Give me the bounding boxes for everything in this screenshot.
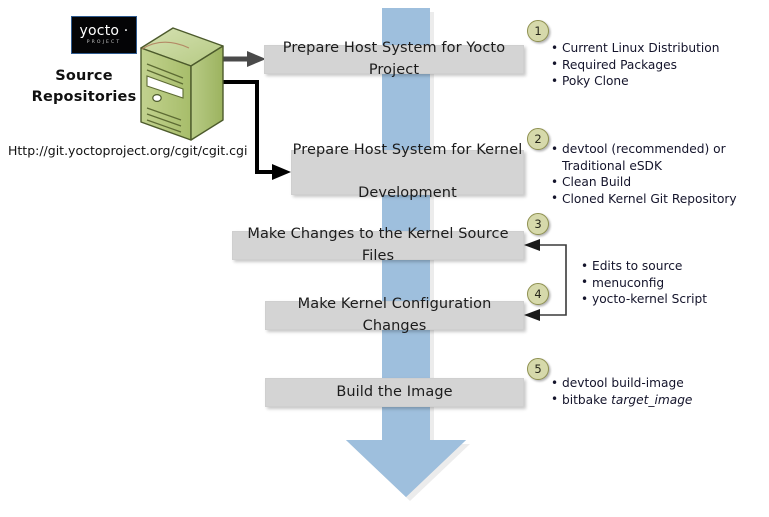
step-3-box-label: Make Changes to the Kernel Source Files [233, 224, 523, 268]
step-4-box[interactable]: Make Kernel Configuration Changes [265, 301, 524, 330]
step-2-box-label: Prepare Host System for Kernel Developme… [292, 140, 523, 205]
step-3-box[interactable]: Make Changes to the Kernel Source Files [232, 231, 524, 260]
source-repository-url[interactable]: Http://git.yoctoproject.org/cgit/cgit.cg… [8, 143, 247, 158]
step-5-number-badge: 5 [527, 358, 549, 380]
step-2-box-line2: Development [292, 183, 523, 205]
steps-3-4-bullet: Edits to source [580, 258, 707, 275]
server-icon [133, 26, 225, 144]
steps-3-4-bullet-list: Edits to source menuconfig yocto-kernel … [580, 258, 707, 308]
step-2-bullet: Clean Build [550, 174, 737, 191]
step-5-bullet: bitbake target_image [550, 392, 692, 409]
step-1-box[interactable]: Prepare Host System for Yocto Project [264, 45, 524, 74]
step-1-number-badge: 1 [527, 20, 549, 42]
step-1-box-label: Prepare Host System for Yocto Project [265, 38, 523, 82]
steps-3-4-bullet: menuconfig [580, 275, 707, 292]
yocto-project-logo: yocto · PROJECT [71, 16, 137, 54]
connector-server-to-step2 [220, 82, 291, 180]
connector-bracket-steps-3-4 [524, 239, 566, 321]
step-3-number-badge: 3 [527, 213, 549, 235]
step-4-number-badge: 4 [527, 283, 549, 305]
step-2-bullet-continuation: Traditional eSDK [550, 158, 737, 175]
step-5-box-label: Build the Image [266, 382, 523, 404]
logo-subword: PROJECT [87, 39, 122, 46]
step-5-box[interactable]: Build the Image [265, 378, 524, 407]
step-4-box-label: Make Kernel Configuration Changes [266, 294, 523, 338]
logo-wordmark: yocto · [80, 24, 129, 38]
diagram-canvas: yocto · PROJECT [0, 0, 769, 517]
source-label-line2: Repositories [28, 87, 140, 108]
step-5-bullet-command: bitbake [562, 393, 611, 407]
step-5-bullet: devtool build-image [550, 375, 692, 392]
step-2-box[interactable]: Prepare Host System for Kernel Developme… [291, 150, 524, 195]
steps-3-4-bullet: yocto-kernel Script [580, 291, 707, 308]
step-2-bullet: devtool (recommended) or [550, 141, 737, 158]
step-1-bullet: Current Linux Distribution [550, 40, 719, 57]
connector-server-to-step1 [220, 51, 266, 67]
step-2-bullet-list: devtool (recommended) or Traditional eSD… [550, 141, 737, 207]
step-2-box-line1: Prepare Host System for Kernel [292, 140, 523, 162]
source-label-line1: Source [28, 66, 140, 87]
step-2-bullet: Cloned Kernel Git Repository [550, 191, 737, 208]
step-5-bullet-list: devtool build-image bitbake target_image [550, 375, 692, 408]
step-1-bullet: Poky Clone [550, 73, 719, 90]
step-5-bullet-variable: target_image [611, 393, 692, 407]
step-1-bullet-list: Current Linux Distribution Required Pack… [550, 40, 719, 90]
step-2-number-badge: 2 [527, 128, 549, 150]
source-repositories-label: Source Repositories [28, 66, 140, 108]
step-1-bullet: Required Packages [550, 57, 719, 74]
